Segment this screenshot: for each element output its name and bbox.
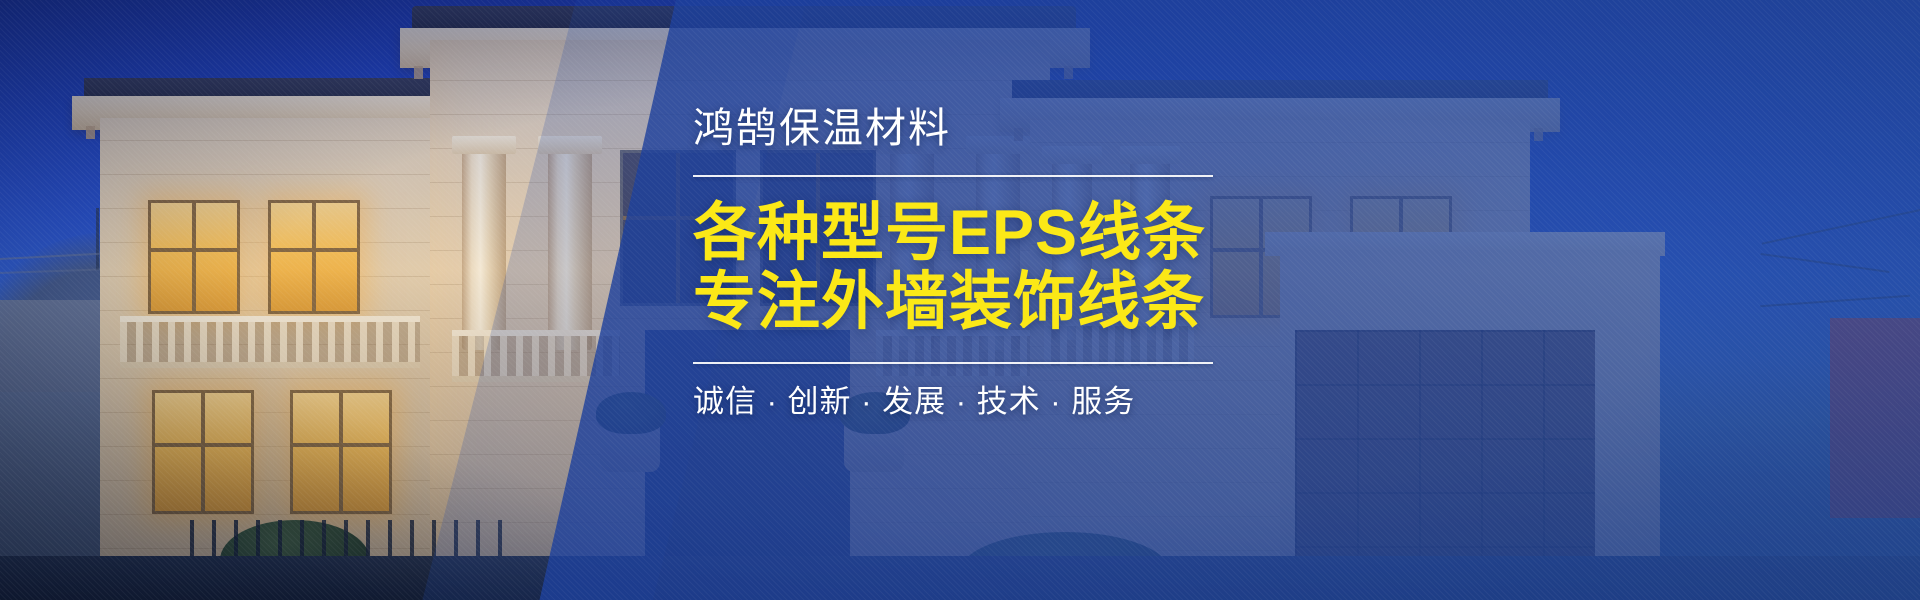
tagline: 诚信 · 创新 · 发展 · 技术 · 服务 — [693, 386, 1333, 417]
divider-top — [693, 175, 1213, 177]
headline-line-1: 各种型号EPS线条 — [693, 199, 1333, 268]
left-wing-roof — [84, 78, 454, 98]
ground-line — [0, 556, 1920, 600]
divider-bottom — [693, 362, 1213, 364]
window-glowing — [268, 200, 360, 314]
red-object — [1830, 318, 1920, 518]
antenna — [96, 208, 99, 270]
window-glowing — [148, 200, 240, 314]
column — [462, 150, 506, 350]
shrub — [596, 392, 666, 434]
column — [548, 150, 592, 350]
headline-group: 各种型号EPS线条 专注外墙装饰线条 — [693, 199, 1333, 338]
column-capital — [452, 136, 516, 154]
company-name: 鸿鹄保温材料 — [693, 108, 1333, 149]
column-capital — [538, 136, 602, 154]
right-wing-roof — [1012, 80, 1548, 100]
balustrade — [120, 316, 420, 368]
window-glowing — [152, 390, 254, 514]
window-glowing — [290, 390, 392, 514]
banner-content: 鸿鹄保温材料 各种型号EPS线条 专注外墙装饰线条 诚信 · 创新 · 发展 ·… — [693, 108, 1333, 417]
headline-line-2: 专注外墙装饰线条 — [693, 268, 1333, 337]
balustrade — [452, 330, 620, 382]
hero-banner: 鸿鹄保温材料 各种型号EPS线条 专注外墙装饰线条 诚信 · 创新 · 发展 ·… — [0, 0, 1920, 600]
